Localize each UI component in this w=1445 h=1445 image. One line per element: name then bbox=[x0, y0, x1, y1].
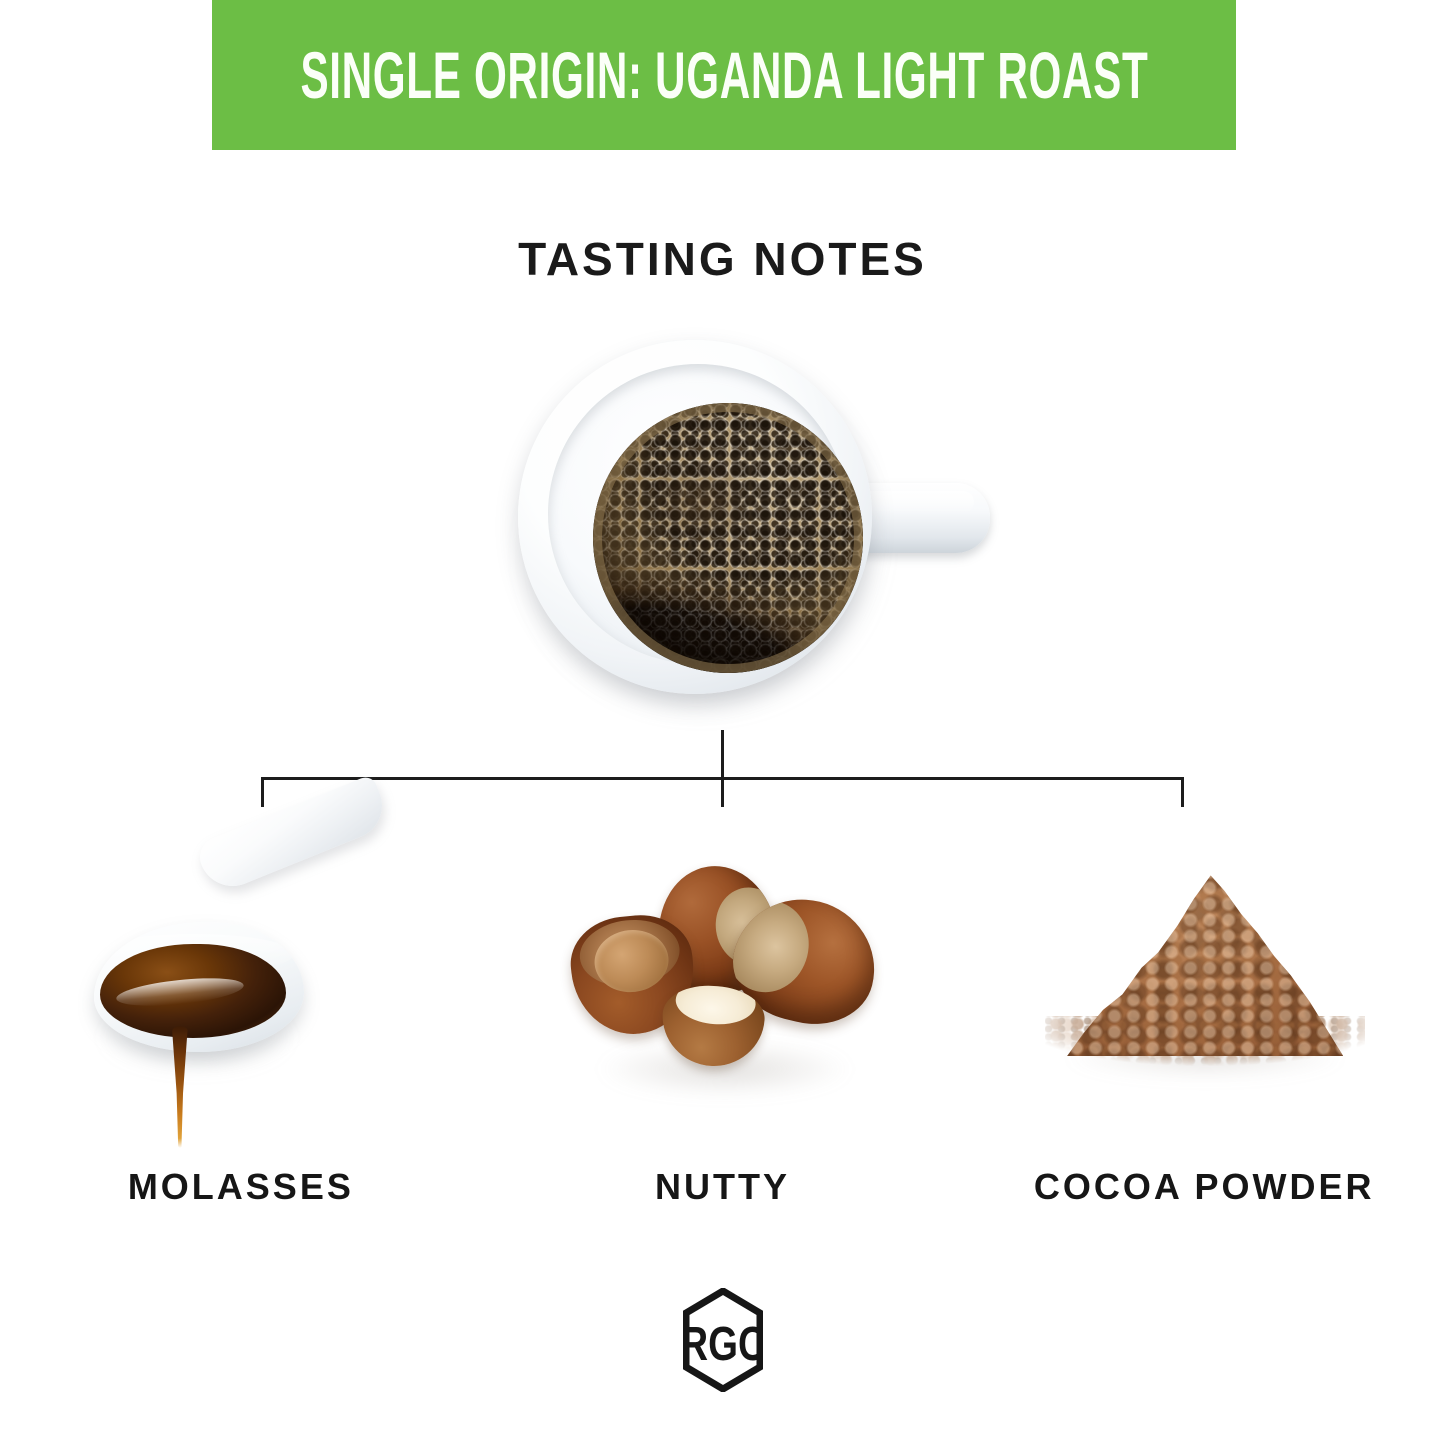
tasting-note-label: COCOA POWDER bbox=[1034, 1166, 1375, 1208]
coffee-liquid bbox=[593, 403, 863, 673]
spoon-bowl bbox=[94, 922, 304, 1052]
molasses-drip bbox=[172, 1026, 188, 1148]
header-banner: SINGLE ORIGIN: UGANDA LIGHT ROAST bbox=[212, 0, 1236, 150]
cup-body bbox=[518, 340, 872, 694]
cocoa-powder-image bbox=[1039, 830, 1369, 1160]
coffee-cup-image bbox=[505, 335, 995, 715]
tasting-notes-row: MOLASSES NUTTY COCOA POWDER bbox=[0, 830, 1445, 1270]
banner-title: SINGLE ORIGIN: UGANDA LIGHT ROAST bbox=[300, 42, 1148, 108]
tasting-note-nutty: NUTTY bbox=[482, 830, 964, 1270]
cocoa-mound bbox=[1067, 864, 1343, 1056]
page-title: TASTING NOTES bbox=[0, 232, 1445, 286]
molasses-spoon-image bbox=[76, 830, 406, 1160]
tasting-note-label: NUTTY bbox=[655, 1166, 790, 1208]
bracket-tick-right bbox=[1181, 777, 1184, 807]
hazelnuts-image bbox=[558, 830, 888, 1160]
foam-ring bbox=[593, 403, 863, 673]
tasting-note-label: MOLASSES bbox=[128, 1166, 354, 1208]
logo-text: RGC bbox=[683, 1318, 763, 1371]
cup-rim bbox=[548, 364, 848, 664]
bracket-stem bbox=[721, 730, 724, 780]
rgc-logo: RGC bbox=[683, 1288, 763, 1392]
tasting-note-molasses: MOLASSES bbox=[0, 830, 482, 1270]
bracket-connector bbox=[255, 730, 1190, 810]
bracket-tick-left bbox=[261, 777, 264, 807]
tasting-note-cocoa-powder: COCOA POWDER bbox=[963, 830, 1445, 1270]
bracket-tick-middle bbox=[721, 777, 724, 807]
cocoa-texture bbox=[1067, 864, 1343, 1056]
molasses-pool bbox=[100, 944, 286, 1038]
